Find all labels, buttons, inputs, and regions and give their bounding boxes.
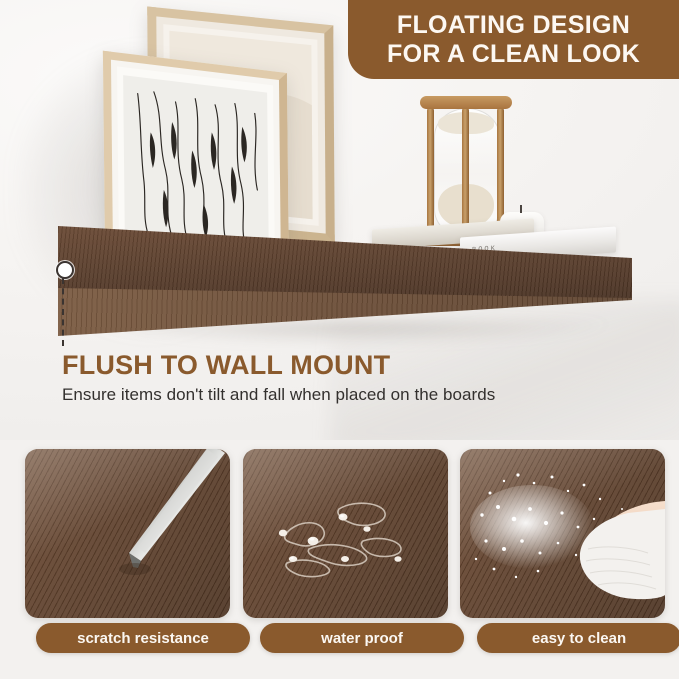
- screwdriver-icon: [25, 449, 230, 618]
- feature-label-water-proof[interactable]: water proof: [260, 623, 464, 653]
- shelf-front-edge: [58, 226, 632, 298]
- floating-wood-shelf: [58, 226, 632, 338]
- callout-dashed-leader-line: [62, 278, 64, 346]
- page-subheadline: Ensure items don't tilt and fall when pl…: [62, 385, 495, 405]
- feature-panel-scratch-resistance: [25, 449, 230, 618]
- feature-panel-row: [0, 449, 679, 621]
- page-headline: FLUSH TO WALL MOUNT: [62, 350, 390, 381]
- feature-panel-easy-to-clean: [460, 449, 665, 618]
- hourglass-cap-top: [420, 96, 512, 109]
- feature-panel-water-proof: [243, 449, 448, 618]
- banner-line-1: FLOATING DESIGN: [397, 11, 630, 39]
- feature-label-scratch-resistance[interactable]: scratch resistance: [36, 623, 250, 653]
- hourglass-post: [427, 107, 434, 237]
- product-feature-image: BOOK FLOATING DESIGN FOR A CLEAN LOOK FL…: [0, 0, 679, 679]
- floating-design-banner: FLOATING DESIGN FOR A CLEAN LOOK: [348, 0, 679, 79]
- flush-mount-dot-icon: [56, 261, 74, 279]
- feature-label-easy-to-clean[interactable]: easy to clean: [477, 623, 679, 653]
- hourglass-post: [462, 107, 469, 237]
- banner-line-2: FOR A CLEAN LOOK: [387, 40, 640, 68]
- cleaning-hand-cloth-icon: [460, 449, 665, 618]
- water-droplets-icon: [243, 449, 448, 618]
